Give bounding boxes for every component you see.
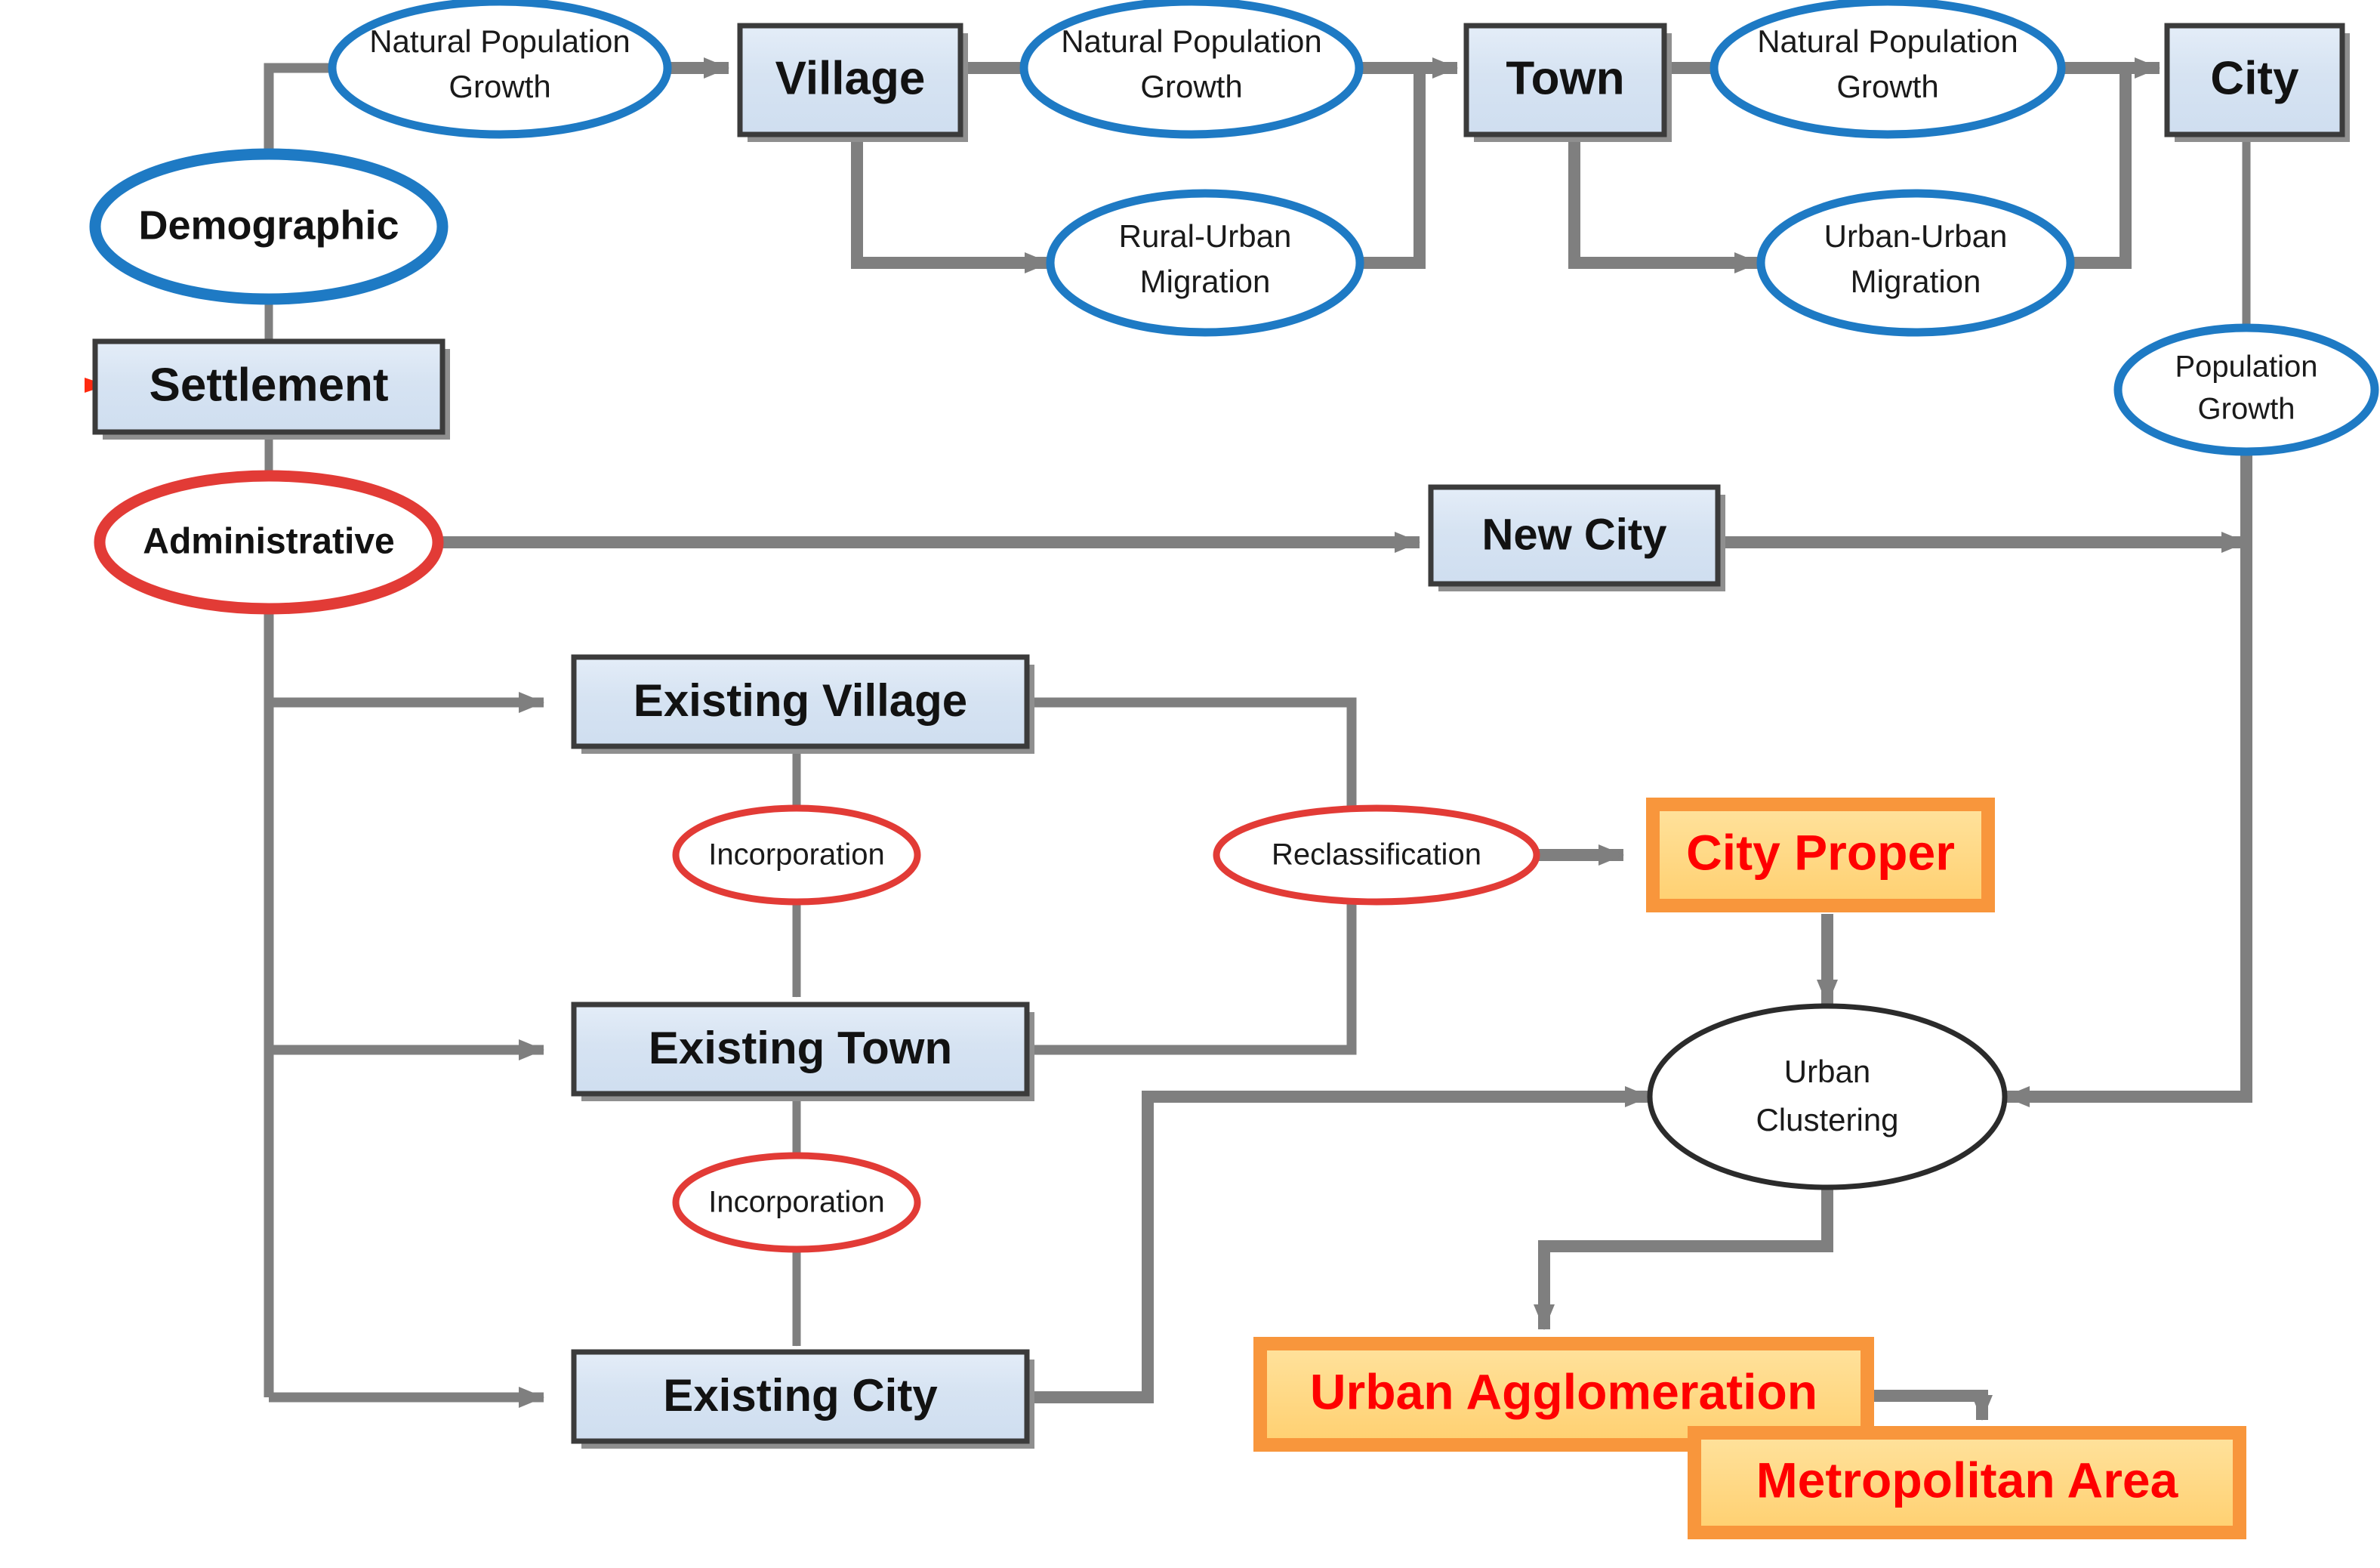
urban-clustering-line2: Clustering — [1756, 1102, 1898, 1137]
rural-urban-migration-line2: Migration — [1140, 264, 1271, 299]
reclassification-label: Reclassification — [1272, 838, 1481, 872]
npg1-line2: Growth — [449, 69, 550, 104]
node-village[interactable]: Village — [740, 26, 968, 142]
flow-diagram-canvas: Natural Population Growth Natural Popula… — [0, 0, 2380, 1568]
node-natural-population-growth-3[interactable]: Natural Population Growth — [1714, 2, 2061, 134]
node-town[interactable]: Town — [1466, 26, 1672, 142]
edge-urban-clustering-to-urban-agglomeration — [1544, 1186, 1827, 1329]
edge-town-to-urban-urban-migration — [1574, 137, 1759, 263]
rural-urban-migration-line1: Rural-Urban — [1119, 218, 1292, 254]
node-natural-population-growth-2[interactable]: Natural Population Growth — [1024, 2, 1359, 134]
npg1-line1: Natural Population — [369, 23, 630, 59]
node-population-growth[interactable]: Population Growth — [2118, 328, 2375, 452]
node-demographic[interactable]: Demographic — [95, 154, 442, 299]
new-city-label: New City — [1482, 510, 1667, 559]
edge-existing-town-to-reclassification — [1021, 899, 1352, 1050]
node-metropolitan-area[interactable]: Metropolitan Area — [1688, 1426, 2246, 1539]
npg2-line1: Natural Population — [1061, 23, 1322, 59]
npg2-line2: Growth — [1140, 69, 1242, 104]
metropolitan-area-label: Metropolitan Area — [1756, 1452, 2179, 1508]
node-urban-clustering[interactable]: Urban Clustering — [1650, 1006, 2005, 1187]
edge-existing-village-to-reclassification — [1021, 702, 1352, 810]
node-existing-village[interactable]: Existing Village — [574, 657, 1034, 754]
edge-urban-agglomeration-to-metropolitan-area — [1873, 1396, 1982, 1420]
node-city[interactable]: City — [2167, 26, 2350, 142]
npg3-line1: Natural Population — [1757, 23, 2018, 59]
urban-urban-migration-line1: Urban-Urban — [1824, 218, 2008, 254]
node-administrative[interactable]: Administrative — [100, 476, 438, 609]
village-label: Village — [775, 52, 926, 104]
existing-village-label: Existing Village — [634, 675, 967, 726]
node-natural-population-growth-1[interactable]: Natural Population Growth — [332, 2, 667, 134]
node-existing-town[interactable]: Existing Town — [574, 1005, 1034, 1101]
urban-clustering-line1: Urban — [1784, 1054, 1870, 1089]
node-settlement[interactable]: Settlement — [95, 341, 450, 440]
city-label: City — [2210, 52, 2299, 104]
city-proper-label: City Proper — [1686, 824, 1955, 880]
urban-agglomeration-label: Urban Agglomeration — [1310, 1363, 1817, 1419]
node-city-proper[interactable]: City Proper — [1646, 798, 1995, 912]
settlement-label: Settlement — [150, 359, 389, 411]
edge-urban-urban-migration-to-city — [2069, 72, 2126, 263]
node-urban-urban-migration[interactable]: Urban-Urban Migration — [1761, 193, 2070, 332]
urban-urban-migration-line2: Migration — [1851, 264, 1981, 299]
demographic-label: Demographic — [138, 202, 399, 248]
node-incorporation-2[interactable]: Incorporation — [676, 1156, 917, 1249]
edge-rural-urban-migration-to-town — [1359, 72, 1420, 263]
existing-city-label: Existing City — [663, 1370, 938, 1421]
npg3-line2: Growth — [1836, 69, 1938, 104]
population-growth-line1: Population — [2175, 350, 2317, 384]
incorporation2-label: Incorporation — [708, 1186, 884, 1219]
administrative-label: Administrative — [143, 522, 394, 562]
incorporation1-label: Incorporation — [708, 838, 884, 872]
town-label: Town — [1506, 52, 1624, 104]
node-existing-city[interactable]: Existing City — [574, 1352, 1034, 1449]
node-reclassification[interactable]: Reclassification — [1216, 808, 1537, 902]
flow-diagram-svg: Natural Population Growth Natural Popula… — [0, 0, 2380, 1568]
node-incorporation-1[interactable]: Incorporation — [676, 808, 917, 902]
edge-village-to-rural-urban-migration — [857, 137, 1050, 263]
existing-town-label: Existing Town — [649, 1023, 952, 1073]
node-new-city[interactable]: New City — [1431, 487, 1725, 591]
node-rural-urban-migration[interactable]: Rural-Urban Migration — [1050, 193, 1360, 332]
population-growth-line2: Growth — [2198, 393, 2295, 426]
